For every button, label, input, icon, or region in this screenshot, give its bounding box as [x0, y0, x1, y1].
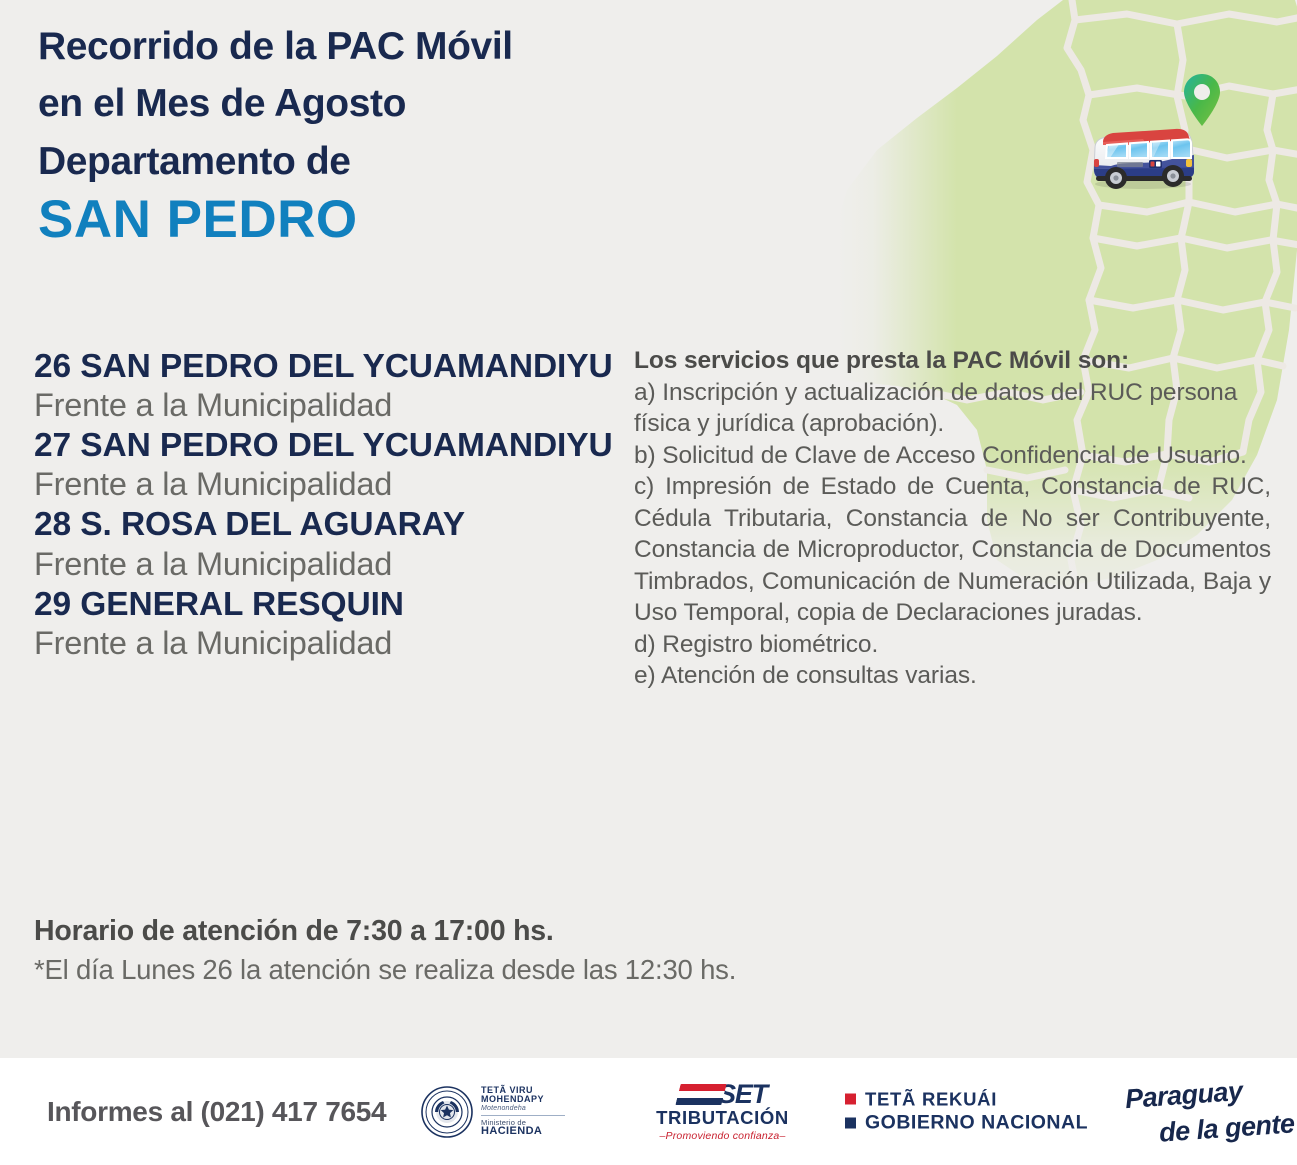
schedule-item-title: 26 SAN PEDRO DEL YCUAMANDIYU [34, 348, 634, 386]
page-title-block: Recorrido de la PAC Móvil en el Mes de A… [38, 18, 738, 251]
schedule-item-location: Frente a la Municipalidad [34, 465, 634, 504]
schedule-item-day: 28 [34, 506, 80, 543]
schedule-item: 27 SAN PEDRO DEL YCUAMANDIYU Frente a la… [34, 427, 634, 504]
gobierno-line-2: GOBIERNO NACIONAL [865, 1114, 1088, 1134]
schedule-item-day: 29 [34, 586, 80, 623]
service-item-e: e) Atención de consultas varias. [634, 660, 1271, 691]
poster-canvas: Recorrido de la PAC Móvil en el Mes de A… [0, 0, 1297, 1165]
hacienda-line-3: Motenondeha [481, 1105, 565, 1112]
hours-main: Horario de atención de 7:30 a 17:00 hs. [34, 912, 736, 951]
department-name: SAN PEDRO [38, 190, 738, 251]
headline-line-3: Departamento de [38, 133, 738, 190]
footer-bar: Informes al (021) 417 7654 TETÃ VIRU MOH… [0, 1058, 1297, 1165]
red-square-icon [845, 1094, 856, 1105]
schedule-item-location: Frente a la Municipalidad [34, 545, 634, 584]
schedule-item-location: Frente a la Municipalidad [34, 624, 634, 663]
service-item-a: a) Inscripción y actualización de datos … [634, 377, 1271, 440]
services-title: Los servicios que presta la PAC Móvil so… [634, 345, 1271, 377]
paraguay-brand-line-1: Paraguay [1124, 1075, 1243, 1114]
set-slogan: –Promoviendo confianza– [655, 1130, 790, 1142]
logo-ministerio-hacienda: TETÃ VIRU MOHENDAPY Motenondeha Minister… [420, 1085, 565, 1139]
schedule-item-place: SAN PEDRO DEL YCUAMANDIYU [80, 427, 612, 464]
logo-paraguay-de-la-gente: Paraguay de la gente [1125, 1080, 1295, 1144]
paraguay-seal-icon [420, 1085, 474, 1139]
service-item-d: d) Registro biométrico. [634, 629, 1271, 660]
schedule-item-place: GENERAL RESQUIN [80, 586, 404, 623]
informes-phone: Informes al (021) 417 7654 [47, 1096, 386, 1128]
paraguay-flag-bars-icon [675, 1084, 726, 1105]
schedule-item-day: 27 [34, 427, 80, 464]
service-item-c: c) Impresión de Estado de Cuenta, Consta… [634, 471, 1271, 628]
paraguay-brand-line-2: de la gente [1158, 1108, 1295, 1148]
schedule-item-place: SAN PEDRO DEL YCUAMANDIYU [80, 348, 612, 385]
services-block: Los servicios que presta la PAC Móvil so… [634, 345, 1271, 692]
pac-movil-bus-icon [1083, 112, 1201, 200]
schedule-item: 26 SAN PEDRO DEL YCUAMANDIYU Frente a la… [34, 348, 634, 425]
set-tributacion-label: TRIBUTACIÓN [655, 1107, 790, 1129]
schedule-item-day: 26 [34, 348, 80, 385]
schedule-item-title: 28 S. ROSA DEL AGUARAY [34, 506, 634, 544]
gobierno-line-1: TETÃ REKUÁI [865, 1090, 997, 1109]
schedule-item-place: S. ROSA DEL AGUARAY [80, 506, 465, 543]
schedule-item-location: Frente a la Municipalidad [34, 386, 634, 425]
schedule-item-title: 29 GENERAL RESQUIN [34, 586, 634, 624]
headline-line-1: Recorrido de la PAC Móvil [38, 18, 738, 75]
hours-note: *El día Lunes 26 la atención se realiza … [34, 951, 736, 988]
blue-square-icon [845, 1118, 856, 1129]
hours-block: Horario de atención de 7:30 a 17:00 hs. … [34, 912, 736, 988]
hacienda-line-2: MOHENDAPY [481, 1095, 565, 1104]
service-item-b: b) Solicitud de Clave de Acceso Confiden… [634, 440, 1271, 471]
schedule-item-title: 27 SAN PEDRO DEL YCUAMANDIYU [34, 427, 634, 465]
headline-line-2: en el Mes de Agosto [38, 75, 738, 132]
hacienda-divider [481, 1115, 565, 1116]
logo-set-tributacion: SET TRIBUTACIÓN –Promoviendo confianza– [655, 1082, 790, 1142]
schedule-item: 28 S. ROSA DEL AGUARAY Frente a la Munic… [34, 506, 634, 583]
logo-gobierno-nacional: TETÃ REKUÁI GOBIERNO NACIONAL [845, 1090, 1088, 1133]
schedule-list: 26 SAN PEDRO DEL YCUAMANDIYU Frente a la… [34, 348, 634, 665]
schedule-item: 29 GENERAL RESQUIN Frente a la Municipal… [34, 586, 634, 663]
hacienda-line-5: HACIENDA [481, 1126, 565, 1137]
